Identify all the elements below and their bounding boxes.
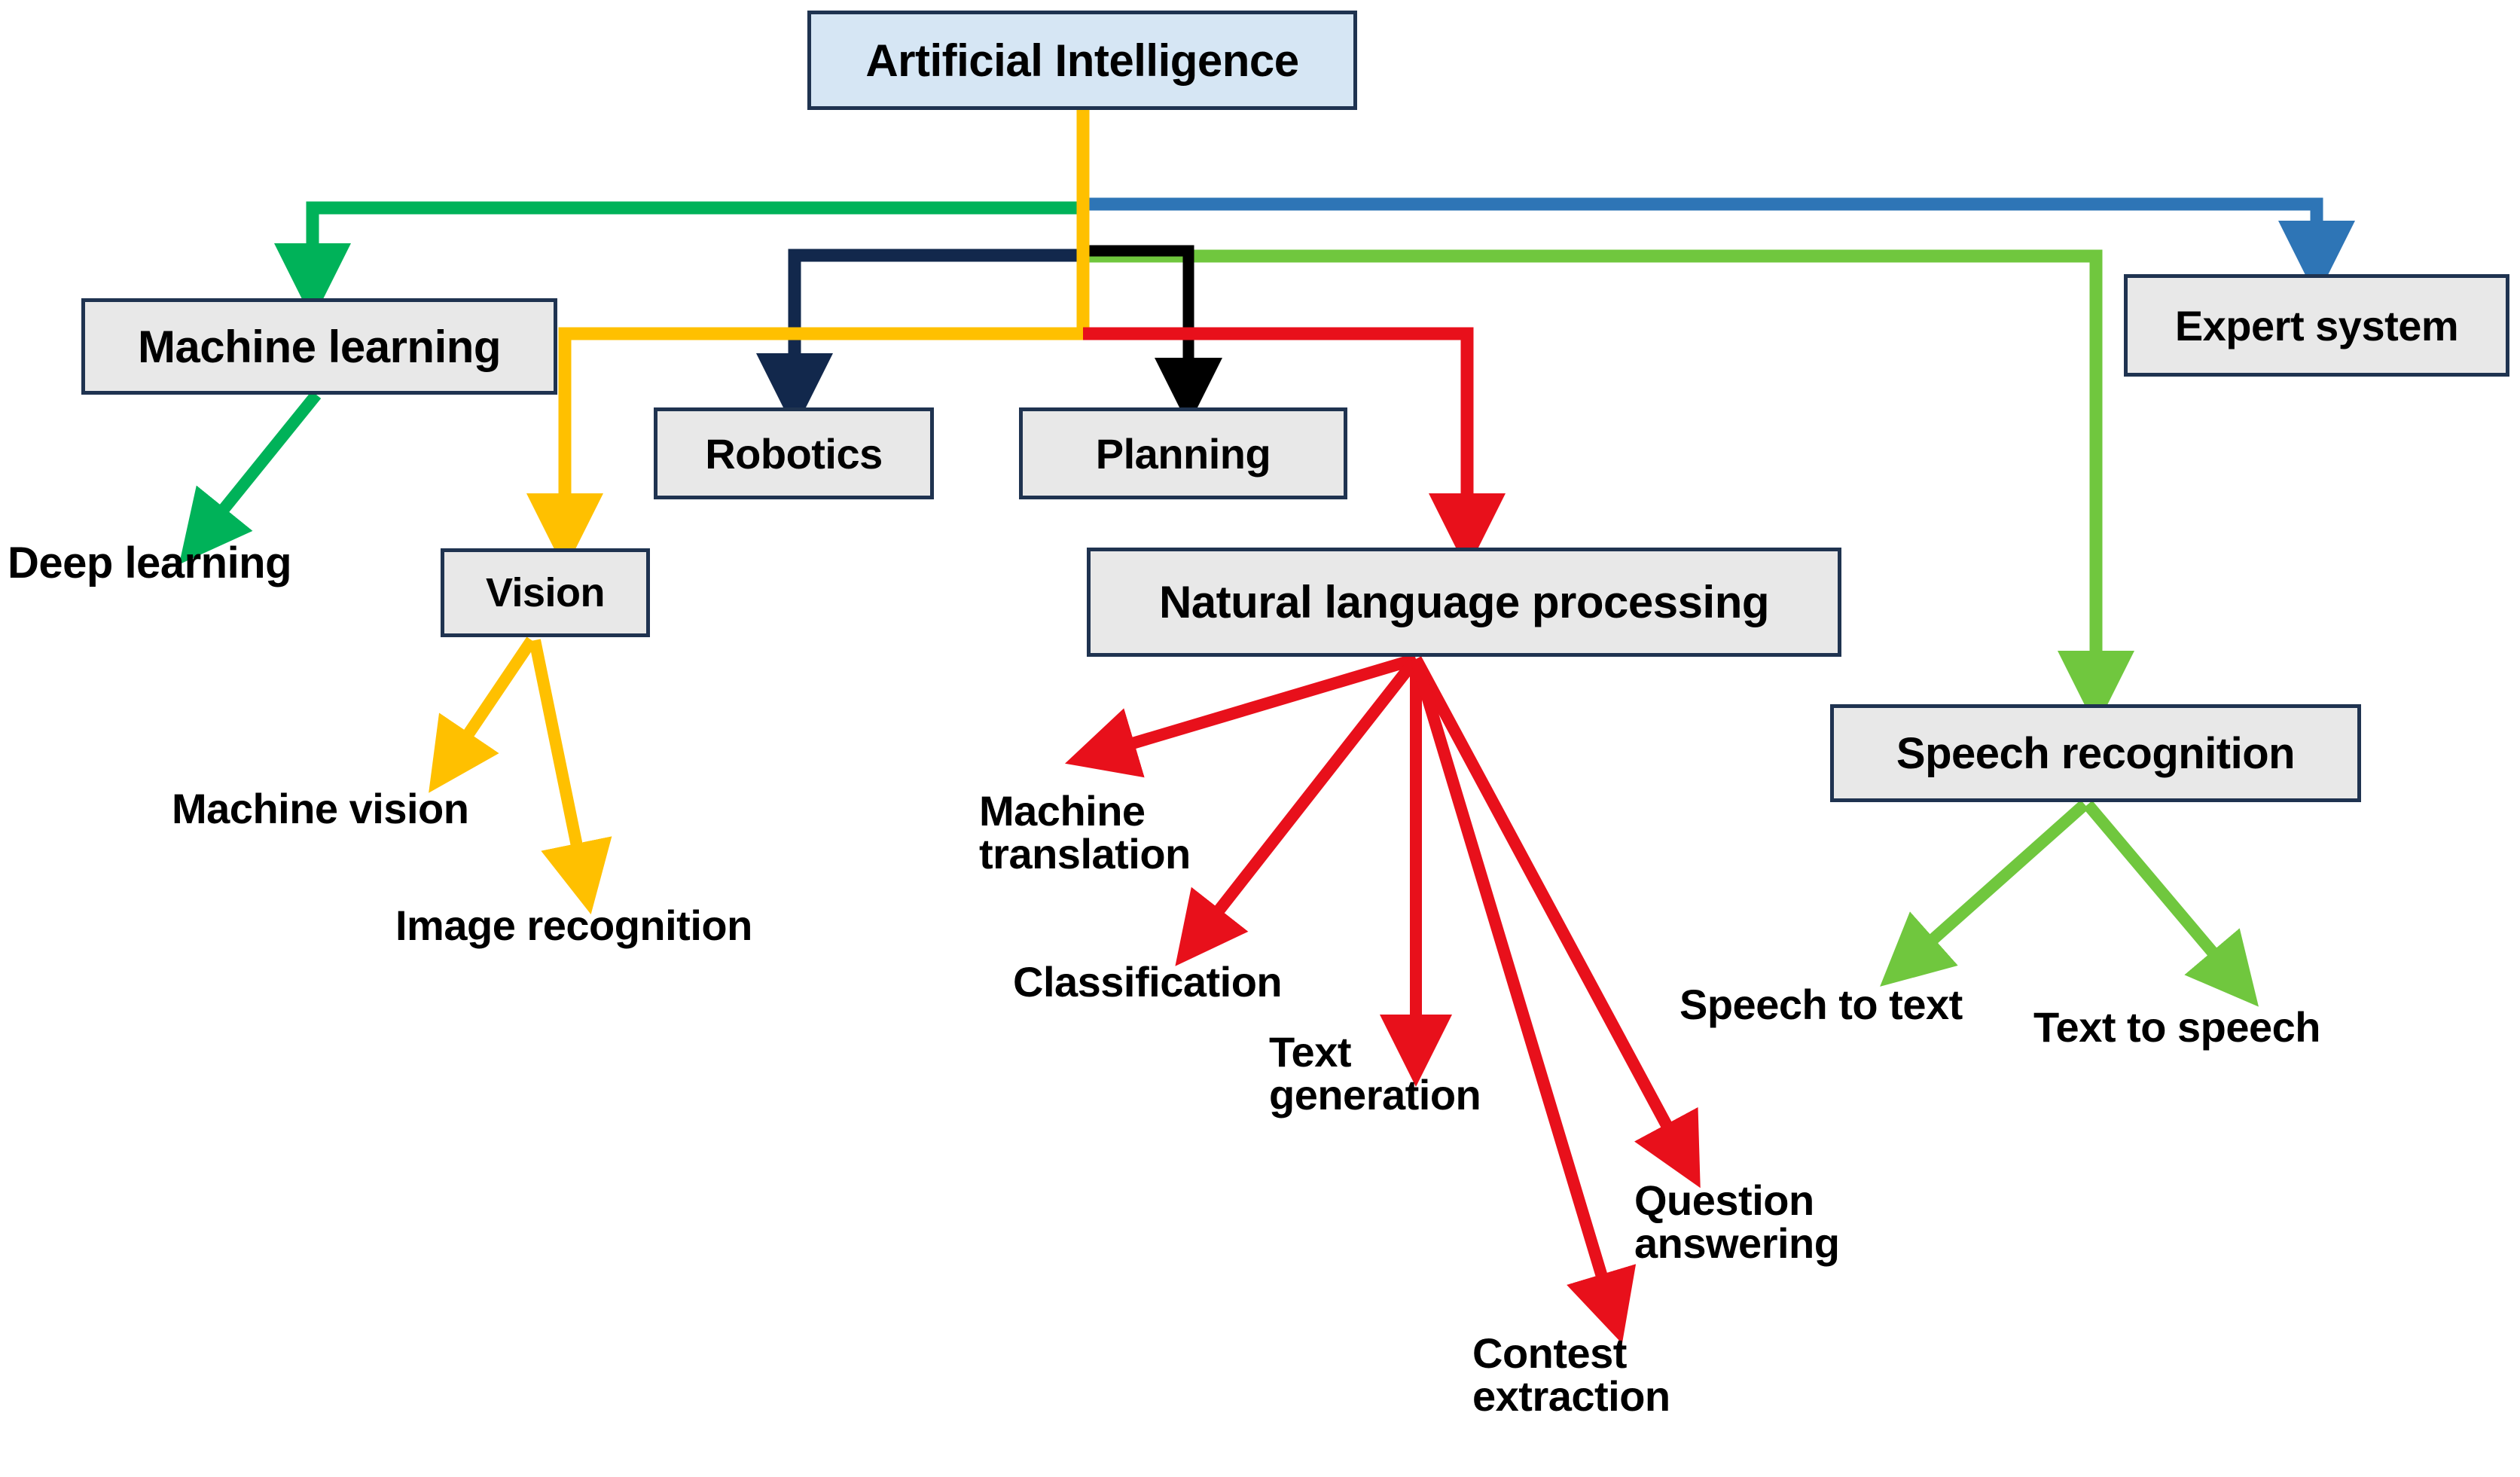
leaf-text-to-speech[interactable]: Text to speech [2033, 1006, 2320, 1048]
node-machine-learning[interactable]: Machine learning [81, 298, 557, 395]
edge-ai-to-planning [1083, 110, 1188, 392]
edge-ai-to-machine-learning [313, 110, 1083, 282]
edge-speech-recognition-to-speech-to-text [1907, 804, 2085, 963]
leaf-text-generation[interactable]: Text generation [1269, 1030, 1481, 1116]
node-label: Natural language processing [1159, 576, 1769, 628]
node-artificial-intelligence[interactable]: Artificial Intelligence [807, 11, 1357, 110]
leaf-contest-extraction[interactable]: Contest extraction [1472, 1332, 1670, 1417]
edge-nlp-to-classification [1197, 659, 1416, 938]
node-label: Machine learning [138, 321, 501, 373]
edge-machine-learning-to-deep-learning [202, 395, 316, 536]
edge-vision-to-image-recognition [535, 640, 584, 879]
edge-nlp-to-contest-extraction [1416, 659, 1612, 1309]
node-label: Speech recognition [1896, 728, 2295, 779]
leaf-question-answering[interactable]: Question answering [1634, 1179, 1839, 1265]
edge-ai-to-robotics [795, 110, 1083, 392]
node-robotics[interactable]: Robotics [654, 407, 934, 499]
node-label: Artificial Intelligence [865, 35, 1298, 87]
node-expert-system[interactable]: Expert system [2124, 274, 2509, 377]
node-speech-recognition[interactable]: Speech recognition [1830, 704, 2361, 802]
node-vision[interactable]: Vision [441, 548, 650, 637]
node-natural-language-processing[interactable]: Natural language processing [1087, 548, 1841, 657]
leaf-speech-to-text[interactable]: Speech to text [1679, 983, 1963, 1026]
node-label: Vision [486, 569, 605, 616]
edge-nlp-to-machine-translation [1100, 659, 1416, 753]
node-label: Expert system [2175, 301, 2458, 350]
leaf-machine-translation[interactable]: Machine translation [979, 789, 1191, 875]
leaf-classification[interactable]: Classification [1013, 960, 1282, 1003]
node-label: Planning [1096, 429, 1271, 478]
node-label: Robotics [705, 429, 883, 478]
edge-ai-to-expert-system [1083, 110, 2317, 259]
diagram-canvas: Artificial Intelligence Machine learning… [0, 0, 2520, 1477]
edge-vision-to-machine-vision [449, 640, 532, 763]
leaf-image-recognition[interactable]: Image recognition [395, 904, 752, 947]
leaf-deep-learning[interactable]: Deep learning [8, 541, 291, 585]
node-planning[interactable]: Planning [1019, 407, 1347, 499]
edge-speech-recognition-to-text-to-speech [2088, 804, 2235, 979]
leaf-machine-vision[interactable]: Machine vision [172, 787, 468, 830]
